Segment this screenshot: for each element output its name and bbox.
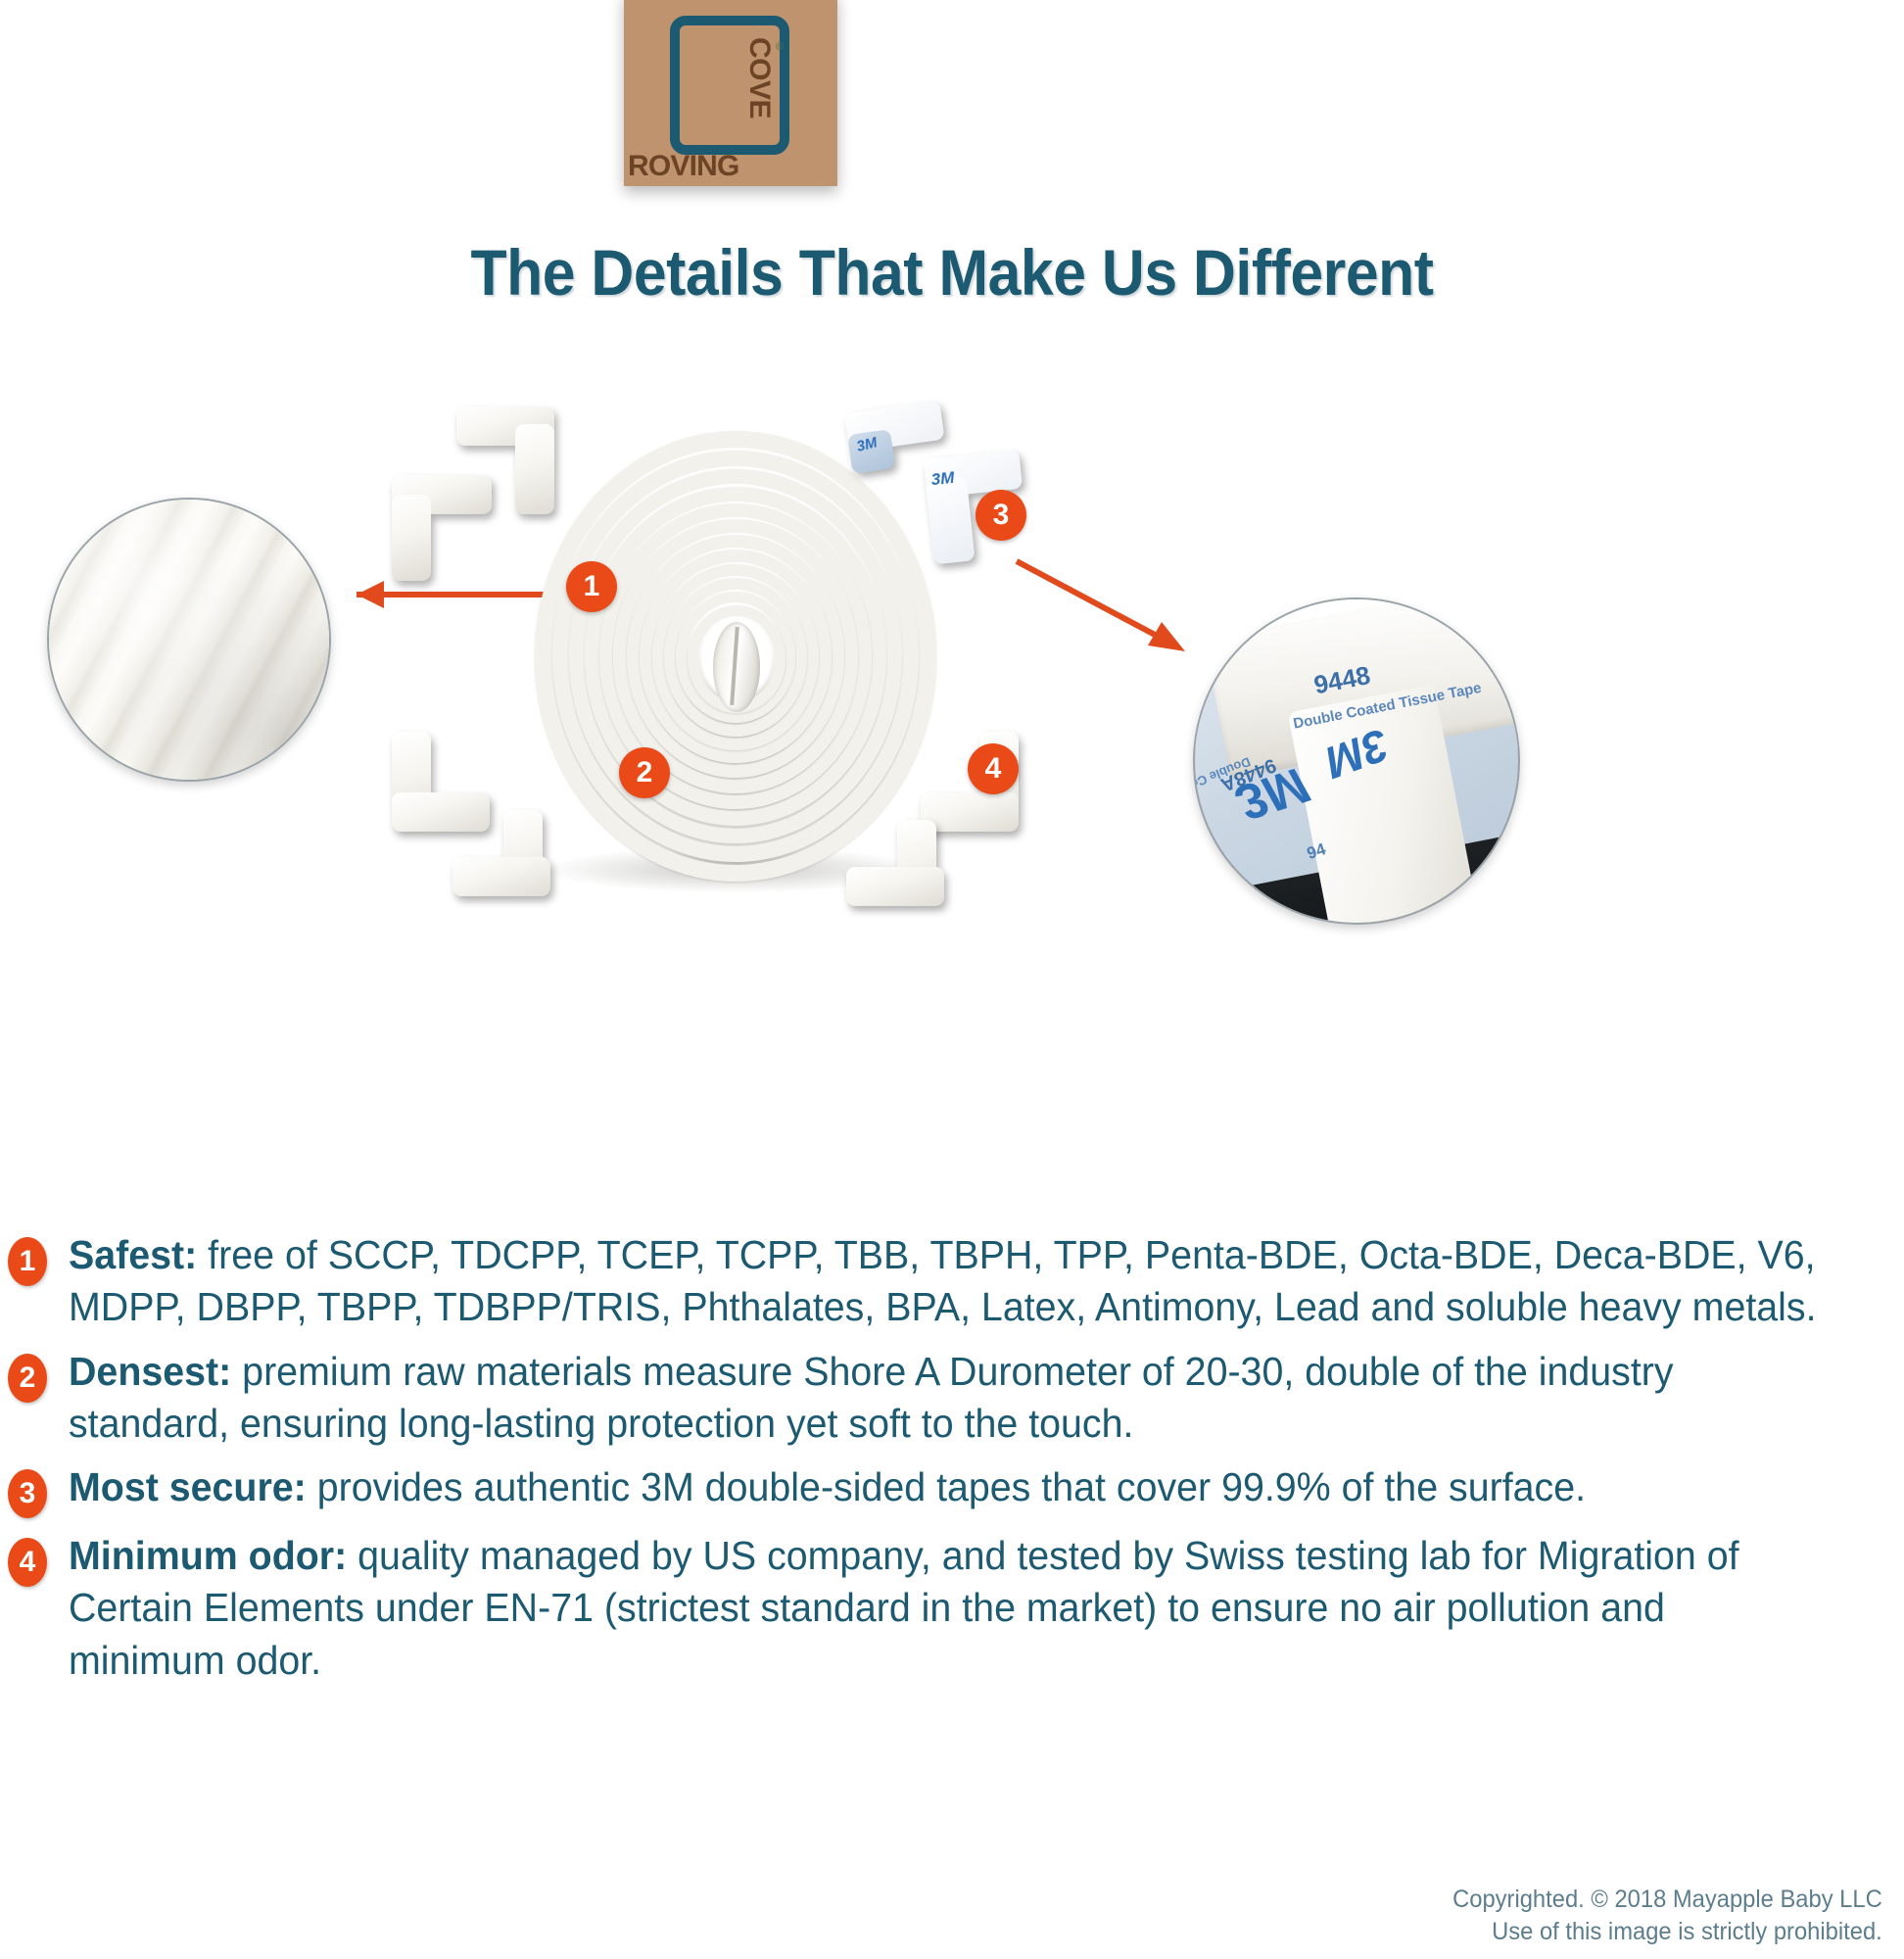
- hero-badge-2[interactable]: 2: [619, 747, 670, 798]
- registered-mark-icon: ®: [776, 41, 784, 53]
- feature-text-2: Densest: premium raw materials measure S…: [69, 1346, 1831, 1451]
- hero-badge-4[interactable]: 4: [968, 743, 1019, 794]
- foam-roll: [535, 431, 936, 882]
- logo-cove-text: COVE: [744, 37, 774, 119]
- page-title: The Details That Make Us Different: [76, 235, 1828, 310]
- feature-body-2: premium raw materials measure Shore A Du…: [69, 1349, 1674, 1446]
- feature-badge-3: 3: [8, 1469, 47, 1518]
- copyright-footer: Copyrighted. © 2018 Mayapple Baby LLC Us…: [1452, 1884, 1882, 1950]
- feature-badge-4: 4: [8, 1538, 47, 1587]
- logo-roving-text: ROVING: [628, 152, 739, 181]
- tape-closeup-inset: 9448 Double Coated Tissue Tape 9448A Dou…: [1193, 597, 1520, 925]
- logo-frame: COVE ®: [670, 16, 789, 155]
- feature-text-4: Minimum odor: quality managed by US comp…: [69, 1530, 1831, 1687]
- feature-item: 4 Minimum odor: quality managed by US co…: [0, 1530, 1904, 1687]
- hero-badge-1[interactable]: 1: [566, 561, 617, 612]
- feature-lead-2: Densest:: [69, 1349, 231, 1394]
- feature-badge-1: 1: [8, 1237, 47, 1286]
- right-callout-arrow-icon: [1009, 553, 1205, 661]
- infographic-page: COVE ® ROVING The Details That Make Us D…: [0, 0, 1904, 1959]
- product-hero: 3M 3M 9448 Double Coate: [0, 387, 1904, 965]
- feature-list: 1 Safest: free of SCCP, TDCPP, TCEP, TCP…: [0, 1229, 1904, 1698]
- feature-lead-1: Safest:: [69, 1232, 197, 1277]
- corner-guard: [846, 820, 954, 918]
- feature-item: 2 Densest: premium raw materials measure…: [0, 1346, 1904, 1451]
- hero-badge-3[interactable]: 3: [976, 490, 1026, 541]
- feature-item: 1 Safest: free of SCCP, TDCPP, TCEP, TCP…: [0, 1229, 1904, 1334]
- feature-body-3: provides authentic 3M double-sided tapes…: [307, 1464, 1586, 1509]
- feature-lead-4: Minimum odor:: [69, 1533, 347, 1578]
- copyright-line-1: Copyrighted. © 2018 Mayapple Baby LLC: [1452, 1884, 1882, 1917]
- foam-shading: [49, 500, 329, 780]
- brand-logo: COVE ® ROVING: [624, 0, 837, 186]
- feature-lead-3: Most secure:: [69, 1464, 307, 1509]
- foam-closeup-inset: [47, 498, 331, 782]
- corner-guard: [392, 475, 500, 583]
- feature-badge-2: 2: [8, 1354, 47, 1403]
- copyright-line-2: Use of this image is strictly prohibited…: [1452, 1916, 1882, 1949]
- feature-body-1: free of SCCP, TDCPP, TCEP, TCPP, TBB, TB…: [69, 1232, 1817, 1329]
- feature-text-1: Safest: free of SCCP, TDCPP, TCEP, TCPP,…: [69, 1229, 1831, 1334]
- feature-text-3: Most secure: provides authentic 3M doubl…: [69, 1461, 1586, 1513]
- feature-item: 3 Most secure: provides authentic 3M dou…: [0, 1461, 1904, 1518]
